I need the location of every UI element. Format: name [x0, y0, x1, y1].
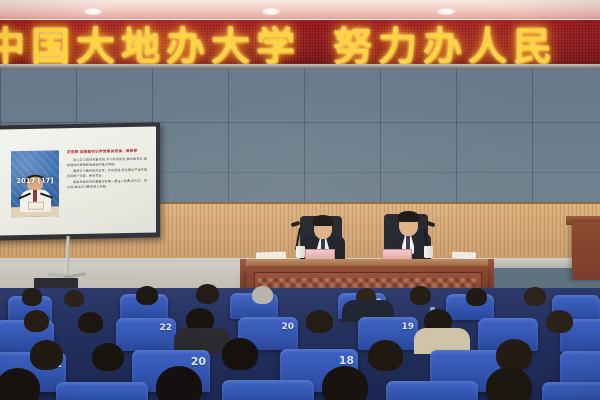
conference-hall-photo: 中国大地办大学 努力办人民 2017 [17] [0, 0, 600, 400]
drinking-cup [296, 246, 305, 258]
seat-number: 20 [191, 355, 206, 368]
attendee-head [22, 288, 42, 306]
attendee-head [496, 339, 532, 371]
attendee-head [136, 286, 158, 305]
slide-paragraph: 要把学习教育抓在日常、严在经常,把全面从严治党落实到每个支部、每名党员。 [67, 168, 147, 179]
attendee-head [306, 310, 333, 333]
attendee-head [368, 340, 403, 371]
speaker-right-hair [398, 211, 419, 222]
attendee-head [524, 287, 546, 306]
audience-seat [56, 382, 148, 400]
attendee-head [30, 340, 63, 370]
drinking-cup [424, 246, 433, 258]
attendee-head [546, 310, 573, 333]
attendee-head [222, 338, 258, 370]
led-banner: 中国大地办大学 努力办人民 [0, 20, 600, 68]
banner-segment-right: 努力办人民 [333, 20, 558, 68]
ceiling-downlight-icon [437, 8, 455, 15]
slide-paragraph: 各级党组织书记要履行好第一责任人职责,带头学、带头讲,推动学习教育深入开展。 [67, 179, 147, 190]
ceiling-downlight-icon [84, 8, 102, 15]
attendee-head [252, 286, 273, 304]
banner-text: 中国大地办大学 努力办人民 [0, 20, 600, 68]
seat-number: 22 [159, 323, 172, 333]
audience-seat: 22 [116, 318, 176, 351]
attendee-head [24, 310, 49, 332]
audience-seat [542, 382, 600, 400]
seat-number: 19 [401, 322, 414, 332]
projection-screen-surface: 2017 [17] 学党章 省委副书记学党章讲党课、做表率 深入学习贯彻党章党规… [0, 126, 156, 235]
slide-paragraph: 深入学习贯彻党章党规,学习系列讲话,做合格党员,是加强党的思想政治建设的重大举措… [67, 157, 147, 168]
seat-number: 20 [281, 322, 294, 332]
slide-photo-nameplate [28, 202, 44, 210]
attendee-head [92, 343, 124, 371]
ceiling-downlight-icon [262, 8, 280, 15]
attendee-head [410, 286, 431, 305]
attendee-head [196, 284, 219, 304]
slide-date-overlay: 2017 [17] [11, 176, 59, 185]
audience-seat [386, 381, 478, 400]
attendee-head [466, 288, 487, 306]
slide-body-text: 深入学习贯彻党章党规,学习系列讲话,做合格党员,是加强党的思想政治建设的重大举措… [67, 157, 147, 221]
attendee-head [486, 367, 532, 400]
audience-seat [222, 380, 314, 400]
slide-heading: 学党章 省委副书记学党章讲党课、做表率 [67, 149, 147, 155]
attendee-head [78, 312, 103, 333]
lectern [572, 222, 600, 280]
banner-segment-left: 中国大地办大学 [0, 20, 301, 68]
attendee-head [156, 366, 202, 400]
attendee-head [64, 290, 84, 307]
projection-screen: 2017 [17] 学党章 省委副书记学党章讲党课、做表率 深入学习贯彻党章党规… [0, 122, 160, 240]
speaker-left-hair [313, 215, 333, 226]
attendee-head [322, 366, 368, 400]
